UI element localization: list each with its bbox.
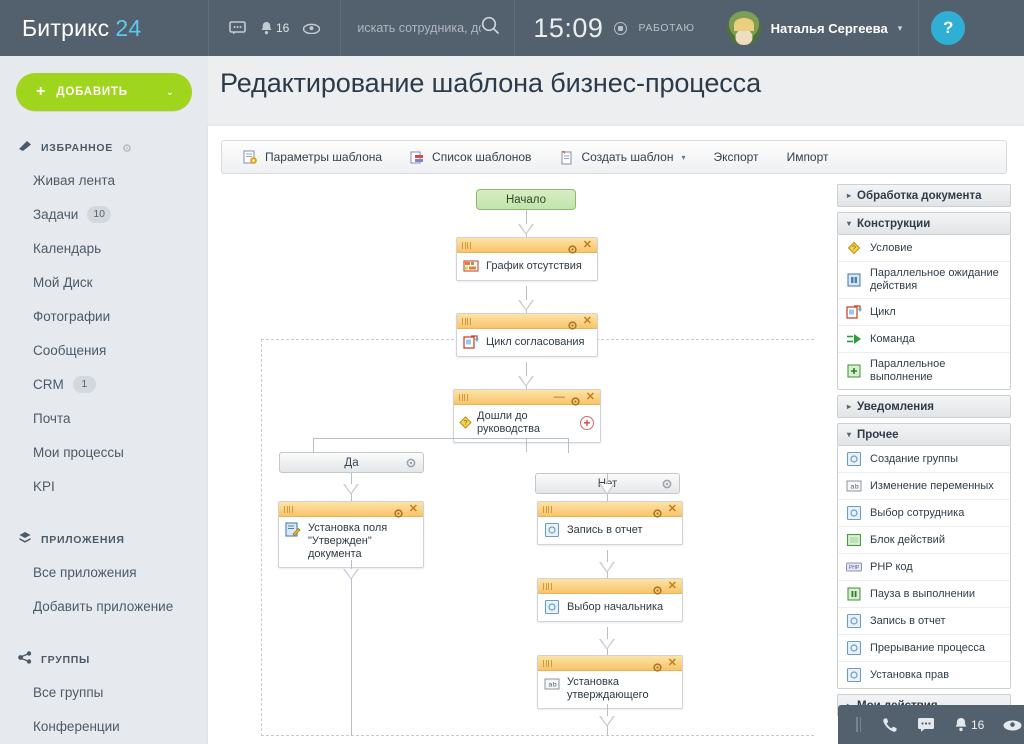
palette-group-document-processing[interactable]: ▸ Обработка документа	[837, 184, 1011, 207]
pin-icon	[18, 139, 32, 157]
parallel-wait-icon	[846, 272, 862, 288]
add-branch-button[interactable]: +	[580, 416, 594, 430]
toolbar-create-template[interactable]: Создать шаблон ▾	[548, 142, 696, 172]
gear-icon[interactable]	[394, 505, 403, 514]
toolbar-label: Экспорт	[713, 150, 758, 164]
bp-canvas[interactable]: Начало ✕ График отсутствия	[221, 184, 816, 736]
logo-text: Битрикс	[22, 15, 109, 42]
logo-accent: 24	[115, 15, 141, 42]
connector	[526, 438, 527, 452]
nav-label: Конференции	[33, 719, 120, 734]
chevron-down-icon: ▾	[847, 219, 851, 228]
palette-item-label: Параллельное выполнение	[870, 358, 1002, 384]
node-header[interactable]: ✕	[538, 579, 682, 594]
node-header[interactable]: ✕	[457, 238, 597, 253]
arrow-down-icon	[599, 562, 615, 573]
chevron-down-icon: ▾	[847, 430, 851, 439]
branch-label: Да	[344, 457, 358, 469]
node-label: Начало	[506, 194, 546, 206]
parallel-exec-icon	[846, 363, 862, 379]
flow-node-approval-loop[interactable]: ✕ Цикл согласования	[456, 313, 598, 357]
report-icon	[544, 522, 560, 538]
status-stop-icon[interactable]	[614, 22, 627, 35]
svg-text:?: ?	[464, 420, 468, 427]
divider	[918, 0, 919, 56]
top-header: Битрикс 24 16 искать сотрудника, докум 1…	[0, 0, 1024, 56]
toolbar-template-list[interactable]: Список шаблонов	[399, 142, 542, 172]
toolbar-label: Импорт	[787, 150, 829, 164]
chat-icon[interactable]	[917, 717, 935, 732]
drag-handle-icon[interactable]	[856, 717, 861, 732]
logo[interactable]: Битрикс 24	[0, 0, 208, 56]
svg-text:b: b	[553, 682, 557, 689]
template-toolbar: Параметры шаблона Список шаблонов Создат…	[221, 140, 1007, 174]
sidebar-item-add-app[interactable]: Добавить приложение	[0, 589, 208, 623]
palette-item-command[interactable]: Команда	[838, 325, 1010, 352]
set-field-icon	[285, 522, 301, 538]
plus-icon: +	[36, 83, 45, 101]
palette-item-label: Выбор сотрудника	[870, 507, 964, 520]
flow-node-condition-reached-management[interactable]: — ✕ ? Дошли до руководства +	[453, 389, 601, 443]
flow-node-absence-chart[interactable]: ✕ График отсутствия	[456, 237, 598, 281]
gear-icon[interactable]	[653, 582, 662, 591]
actions-palette: ▸ Обработка документа ▾ Конструкции ? Ус…	[837, 184, 1011, 736]
phone-icon[interactable]	[882, 717, 898, 733]
arrow-down-icon	[343, 484, 359, 495]
toolbar-label: Список шаблонов	[432, 150, 531, 164]
gear-icon[interactable]: ⚙	[122, 142, 132, 155]
node-header[interactable]: — ✕	[454, 390, 600, 405]
add-button[interactable]: + ДОБАВИТЬ ⌄	[16, 73, 192, 111]
palette-item-label: Изменение переменных	[870, 480, 994, 493]
page-title: Редактирование шаблона бизнес-процесса	[220, 68, 761, 99]
nav-label: Добавить приложение	[33, 599, 173, 614]
toolbar-label: Параметры шаблона	[265, 150, 382, 164]
absence-chart-icon	[463, 258, 479, 274]
connector	[313, 438, 314, 453]
drag-handle-icon[interactable]	[462, 318, 471, 325]
apps-icon	[18, 531, 32, 549]
node-label: Установка утверждающего	[567, 676, 676, 702]
svg-text:a: a	[851, 484, 855, 491]
sidebar-item-tasks[interactable]: Задачи10	[0, 197, 208, 231]
terminate-icon	[846, 640, 862, 656]
sidebar-item-my-processes[interactable]: Мои процессы	[0, 435, 208, 469]
gear-icon[interactable]	[568, 241, 577, 250]
toolbar-import[interactable]: Импорт	[776, 142, 840, 172]
palette-item-parallel-wait[interactable]: Параллельное ожидание действия	[838, 261, 1010, 298]
report-icon	[846, 613, 862, 629]
svg-text:PHP: PHP	[849, 565, 860, 571]
node-label: Запись в отчет	[567, 524, 643, 537]
user-name: Наталья Сергеева	[771, 21, 888, 36]
sidebar-section-favorites[interactable]: ИЗБРАННОЕ ⚙	[0, 133, 208, 163]
avatar	[727, 11, 761, 45]
search-icon[interactable]	[481, 16, 500, 40]
palette-item-label: Команда	[870, 333, 915, 346]
close-icon[interactable]: ✕	[668, 505, 677, 514]
help-button[interactable]: ?	[931, 11, 965, 45]
palette-item-pause[interactable]: Пауза в выполнении	[838, 580, 1010, 607]
palette-item-label: Условие	[870, 242, 913, 255]
minimize-icon[interactable]: —	[554, 394, 565, 400]
nav-label: Мой Диск	[33, 275, 93, 290]
node-label: Дошли до руководства	[477, 410, 573, 436]
palette-item-label: Блок действий	[870, 534, 945, 547]
palette-item-write-report[interactable]: Запись в отчет	[838, 607, 1010, 634]
palette-group-notifications[interactable]: ▸ Уведомления	[837, 395, 1011, 418]
clock-status[interactable]: 15:09 РАБОТАЮ	[515, 0, 712, 56]
close-icon[interactable]: ✕	[583, 241, 592, 250]
flow-node-select-manager[interactable]: ✕ Выбор начальника	[537, 578, 683, 622]
nav-label: Фотографии	[33, 309, 110, 324]
sidebar-item-crm[interactable]: CRM1	[0, 367, 208, 401]
action-block-icon	[846, 532, 862, 548]
drag-handle-icon[interactable]	[543, 660, 552, 667]
flow-node-write-report[interactable]: ✕ Запись в отчет	[537, 501, 683, 545]
section-title: ИЗБРАННОЕ	[41, 142, 113, 154]
bottom-toolbar: 16	[838, 705, 1024, 744]
palette-item-label: Пауза в выполнении	[870, 588, 975, 601]
close-icon[interactable]: ✕	[583, 317, 592, 326]
chevron-down-icon[interactable]: ▾	[898, 23, 903, 34]
nav-label: Задачи	[33, 207, 78, 222]
palette-item-create-group[interactable]: Создание группы	[838, 446, 1010, 472]
section-title: ГРУППЫ	[41, 654, 90, 666]
toolbar-template-settings[interactable]: Параметры шаблона	[232, 142, 393, 172]
arrow-down-icon	[599, 716, 615, 727]
gear-icon[interactable]	[568, 317, 577, 326]
palette-item-change-variables[interactable]: ab Изменение переменных	[838, 472, 1010, 499]
notification-count: 16	[276, 21, 289, 35]
pause-icon	[846, 586, 862, 602]
connector	[568, 438, 569, 453]
palette-group-title: Уведомления	[857, 401, 934, 413]
chevron-down-icon[interactable]: ▾	[681, 153, 685, 162]
sidebar-item-live-feed[interactable]: Живая лента	[0, 163, 208, 197]
chevron-right-icon: ▸	[847, 191, 851, 200]
node-label: График отсутствия	[486, 260, 582, 273]
palette-item-terminate-process[interactable]: Прерывание процесса	[838, 634, 1010, 661]
close-icon[interactable]: ✕	[668, 582, 677, 591]
drag-handle-icon[interactable]	[543, 506, 552, 513]
gear-icon[interactable]	[653, 505, 662, 514]
nav-label: KPI	[33, 479, 55, 494]
arrow-down-icon	[518, 224, 534, 235]
create-group-icon	[846, 451, 862, 467]
palette-item-condition[interactable]: ? Условие	[838, 235, 1010, 261]
header-icon-group: 16	[209, 0, 340, 56]
work-status-label: РАБОТАЮ	[638, 22, 694, 34]
palette-item-set-permissions[interactable]: Установка прав	[838, 661, 1010, 688]
node-header[interactable]: ✕	[457, 314, 597, 329]
connector	[351, 560, 352, 736]
sidebar-section-apps[interactable]: ПРИЛОЖЕНИЯ	[0, 525, 208, 555]
toolbar-export[interactable]: Экспорт	[702, 142, 769, 172]
template-list-icon	[410, 150, 425, 165]
sidebar-item-kpi[interactable]: KPI	[0, 469, 208, 503]
new-template-icon	[559, 150, 574, 165]
palette-item-label: Прерывание процесса	[870, 642, 985, 655]
svg-text:a: a	[549, 682, 553, 689]
close-icon[interactable]: ✕	[586, 393, 595, 402]
nav-label: CRM	[33, 377, 64, 392]
arrow-down-icon	[599, 484, 615, 495]
palette-item-label: Установка прав	[870, 669, 949, 682]
flow-node-start[interactable]: Начало	[476, 189, 576, 210]
sidebar-item-photos[interactable]: Фотографии	[0, 299, 208, 333]
chat-icon[interactable]	[229, 21, 246, 35]
flow-node-set-approved-field[interactable]: ✕ Установка поля "Утвержден" документа	[278, 501, 424, 568]
cloud-icon[interactable]	[303, 22, 320, 34]
palette-group-other-body: Создание группы ab Изменение переменных …	[837, 446, 1011, 689]
gear-icon[interactable]	[653, 659, 662, 668]
sidebar-item-messages[interactable]: Сообщения	[0, 333, 208, 367]
permissions-icon	[846, 667, 862, 683]
sidebar: + ДОБАВИТЬ ⌄ ИЗБРАННОЕ ⚙ Живая лента Зад…	[0, 56, 208, 744]
svg-text:b: b	[855, 484, 859, 491]
palette-item-parallel-exec[interactable]: Параллельное выполнение	[838, 352, 1010, 389]
svg-text:?: ?	[852, 246, 856, 253]
palette-group-title: Конструкции	[857, 218, 930, 230]
clock-time: 15:09	[533, 13, 603, 44]
nav-label: Календарь	[33, 241, 101, 256]
drag-handle-icon[interactable]	[459, 394, 468, 401]
palette-item-loop[interactable]: Цикл	[838, 298, 1010, 325]
palette-group-title: Прочее	[857, 429, 899, 441]
sidebar-section-groups[interactable]: ГРУППЫ	[0, 645, 208, 675]
arrow-down-icon	[599, 639, 615, 650]
arrow-down-icon	[518, 376, 534, 387]
drag-handle-icon[interactable]	[284, 506, 293, 513]
palette-group-constructs-body: ? Условие Параллельное ожидание действия…	[837, 235, 1011, 390]
badge-count: 10	[87, 206, 111, 223]
content-panel: Параметры шаблона Список шаблонов Создат…	[208, 126, 1024, 744]
node-header[interactable]: ✕	[279, 502, 423, 517]
condition-icon: ?	[458, 415, 473, 431]
sidebar-item-mail[interactable]: Почта	[0, 401, 208, 435]
palette-item-label: Параллельное ожидание действия	[870, 267, 1002, 293]
cloud-icon[interactable]	[1003, 718, 1022, 731]
condition-icon: ?	[846, 240, 862, 256]
palette-item-php-code[interactable]: PHP PHP код	[838, 553, 1010, 580]
search-input[interactable]: искать сотрудника, докум	[341, 0, 514, 56]
search-placeholder: искать сотрудника, докум	[357, 21, 481, 35]
arrow-down-icon	[343, 569, 359, 580]
nav-label: Сообщения	[33, 343, 106, 358]
user-menu[interactable]: Наталья Сергеева ▾	[713, 0, 919, 56]
select-user-icon	[544, 599, 560, 615]
gear-icon[interactable]	[571, 393, 580, 402]
nav-label: Все группы	[33, 685, 103, 700]
node-label: Цикл согласования	[486, 336, 585, 349]
bell-icon[interactable]: 16	[954, 717, 984, 733]
palette-item-label: Создание группы	[870, 453, 958, 466]
bell-icon[interactable]: 16	[260, 21, 289, 36]
loop-icon	[463, 334, 479, 350]
set-variable-icon: ab	[846, 478, 862, 494]
gear-icon[interactable]	[406, 458, 416, 468]
palette-item-action-block[interactable]: Блок действий	[838, 526, 1010, 553]
palette-group-title: Обработка документа	[857, 190, 982, 202]
drag-handle-icon[interactable]	[462, 242, 471, 249]
palette-item-select-employee[interactable]: Выбор сотрудника	[838, 499, 1010, 526]
loop-icon	[846, 304, 862, 320]
palette-group-other[interactable]: ▾ Прочее	[837, 423, 1011, 446]
palette-item-label: Запись в отчет	[870, 615, 946, 628]
nav-label: Почта	[33, 411, 71, 426]
badge-count: 1	[73, 376, 96, 393]
template-settings-icon	[243, 150, 258, 165]
close-icon[interactable]: ✕	[409, 505, 418, 514]
node-label: Выбор начальника	[567, 601, 663, 614]
nav-label: Живая лента	[33, 173, 115, 188]
bottom-notification-count: 16	[971, 718, 984, 732]
nav-label: Все приложения	[33, 565, 137, 580]
sidebar-item-all-apps[interactable]: Все приложения	[0, 555, 208, 589]
sidebar-item-conferences[interactable]: Конференции	[0, 709, 208, 743]
node-label: Установка поля "Утвержден" документа	[308, 522, 417, 561]
connector	[313, 438, 568, 439]
chevron-right-icon: ▸	[847, 402, 851, 411]
set-variable-icon: ab	[544, 676, 560, 692]
share-icon	[18, 651, 32, 669]
select-user-icon	[846, 505, 862, 521]
palette-group-constructs[interactable]: ▾ Конструкции	[837, 212, 1011, 235]
arrow-down-icon	[518, 300, 534, 311]
sidebar-item-all-groups[interactable]: Все группы	[0, 675, 208, 709]
command-icon	[846, 331, 862, 347]
drag-handle-icon[interactable]	[543, 583, 552, 590]
node-header[interactable]: ✕	[538, 656, 682, 671]
add-button-label: ДОБАВИТЬ	[56, 86, 128, 98]
palette-item-label: PHP код	[870, 561, 913, 574]
flow-node-set-approver[interactable]: ✕ ab Установка утверждающего	[537, 655, 683, 709]
gear-icon[interactable]	[662, 479, 672, 489]
close-icon[interactable]: ✕	[668, 659, 677, 668]
sidebar-item-calendar[interactable]: Календарь	[0, 231, 208, 265]
sidebar-item-my-drive[interactable]: Мой Диск	[0, 265, 208, 299]
flow-branch-yes[interactable]: Да	[279, 452, 424, 473]
palette-item-label: Цикл	[870, 306, 896, 319]
toolbar-label: Создать шаблон	[581, 150, 673, 164]
section-title: ПРИЛОЖЕНИЯ	[41, 534, 125, 546]
node-header[interactable]: ✕	[538, 502, 682, 517]
php-icon: PHP	[846, 559, 862, 575]
nav-label: Мои процессы	[33, 445, 124, 460]
chevron-down-icon[interactable]: ⌄	[166, 87, 174, 98]
